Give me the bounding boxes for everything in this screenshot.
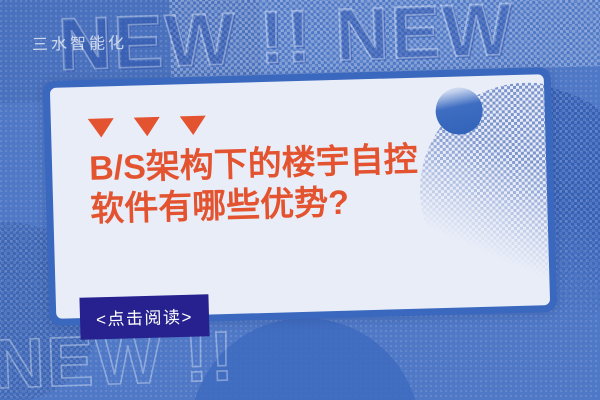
triangle-down-icon <box>88 118 115 138</box>
brand-watermark: 三水智能化 <box>32 29 127 55</box>
page-title: B/S架构下的楼宇自控 软件有哪些优势? <box>89 137 511 232</box>
headline-card-inner: B/S架构下的楼宇自控 软件有哪些优势? <box>50 74 550 319</box>
card-content: B/S架构下的楼宇自控 软件有哪些优势? <box>50 74 548 233</box>
triangle-down-icon <box>180 116 207 136</box>
headline-card: B/S架构下的楼宇自控 软件有哪些优势? <box>43 67 558 326</box>
triangle-bullet-row <box>88 106 545 138</box>
read-more-button[interactable]: <点击阅读> <box>79 294 209 340</box>
triangle-down-icon <box>134 117 161 137</box>
